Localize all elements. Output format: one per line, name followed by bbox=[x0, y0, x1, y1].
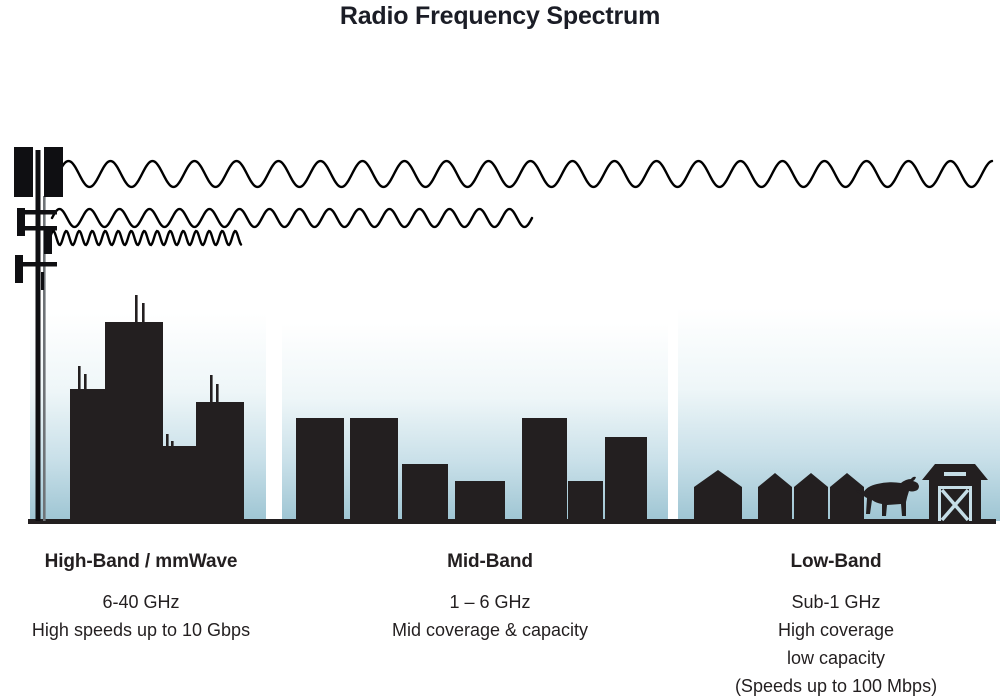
building-spire bbox=[135, 295, 138, 324]
band-column-low: Low-Band Sub-1 GHz High coverage low cap… bbox=[672, 540, 1000, 700]
building-spire bbox=[210, 375, 213, 404]
high-frequency-wave bbox=[50, 231, 241, 245]
low-frequency-wave bbox=[58, 161, 992, 187]
midband-building bbox=[402, 464, 448, 521]
band-line: 6-40 GHz bbox=[0, 588, 282, 616]
midband-building bbox=[296, 418, 344, 521]
band-description-low: Sub-1 GHz High coverage low capacity (Sp… bbox=[672, 588, 1000, 700]
midband-building bbox=[605, 437, 647, 521]
building-spire bbox=[166, 434, 169, 448]
band-column-mid: Mid-Band 1 – 6 GHz Mid coverage & capaci… bbox=[330, 540, 650, 644]
band-line: 1 – 6 GHz bbox=[330, 588, 650, 616]
band-captions: High-Band / mmWave 6-40 GHz High speeds … bbox=[0, 540, 1000, 700]
midband-building bbox=[455, 481, 505, 521]
barn-hayloft-window bbox=[944, 472, 966, 476]
band-description-mid: 1 – 6 GHz Mid coverage & capacity bbox=[330, 588, 650, 644]
band-title-mid: Mid-Band bbox=[330, 550, 650, 574]
building-spire bbox=[142, 303, 145, 324]
band-description-high: 6-40 GHz High speeds up to 10 Gbps bbox=[0, 588, 282, 644]
band-line: Mid coverage & capacity bbox=[330, 616, 650, 644]
mid-frequency-wave bbox=[52, 209, 532, 227]
midband-building bbox=[568, 481, 603, 521]
band-line: High speeds up to 10 Gbps bbox=[0, 616, 282, 644]
band-line: low capacity bbox=[672, 644, 1000, 672]
midband-building bbox=[350, 418, 398, 521]
spectrum-illustration bbox=[0, 0, 1000, 540]
band-line: Sub-1 GHz bbox=[672, 588, 1000, 616]
band-column-high: High-Band / mmWave 6-40 GHz High speeds … bbox=[0, 540, 282, 644]
city-building bbox=[105, 322, 163, 521]
illustration-canvas bbox=[0, 0, 1000, 540]
band-title-low: Low-Band bbox=[672, 550, 1000, 574]
building-spire bbox=[78, 366, 81, 391]
building-spire bbox=[84, 374, 87, 391]
band-line: (Speeds up to 100 Mbps) bbox=[672, 672, 1000, 700]
band-title-high: High-Band / mmWave bbox=[0, 550, 282, 574]
city-building bbox=[196, 402, 244, 521]
building-spire bbox=[216, 384, 219, 404]
radio-waves bbox=[50, 161, 992, 245]
midband-building bbox=[522, 418, 567, 521]
band-line: High coverage bbox=[672, 616, 1000, 644]
